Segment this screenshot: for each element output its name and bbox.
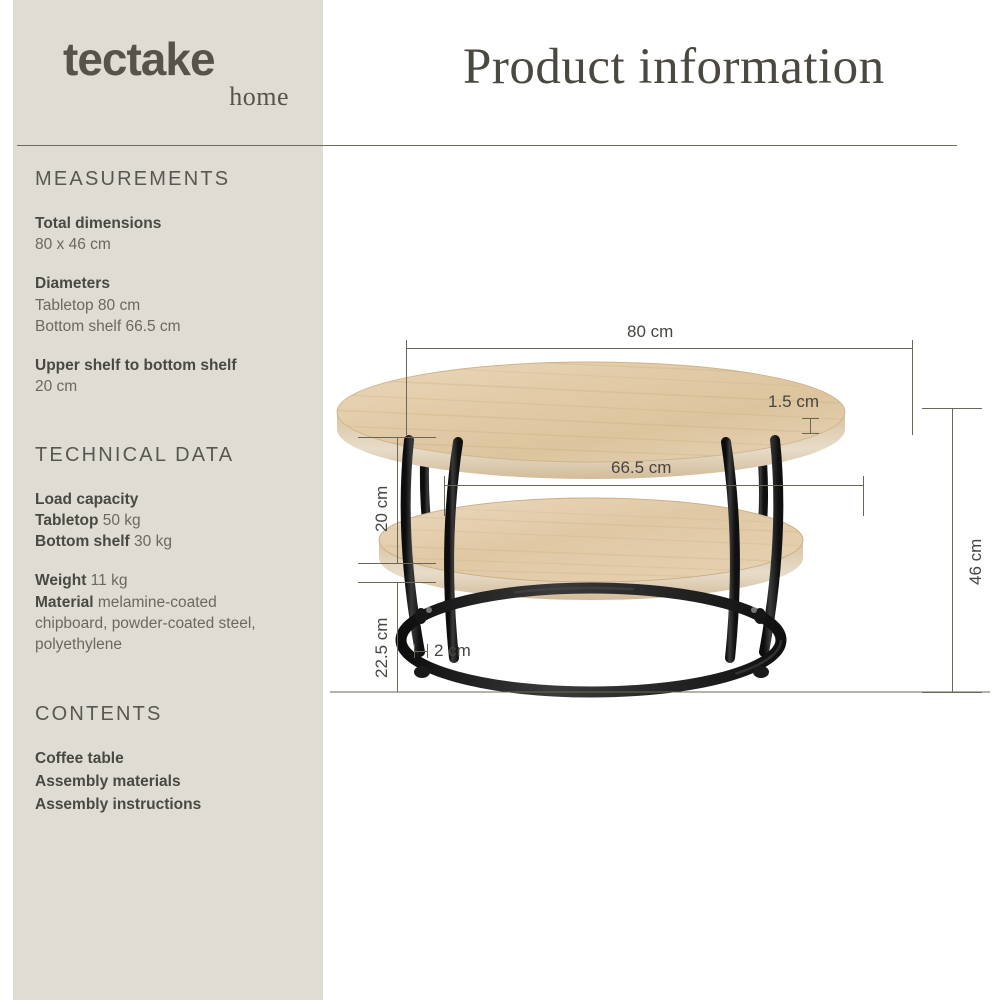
key-load-tabletop: Tabletop [35,512,98,529]
list-item: Assembly materials [35,771,335,794]
dim-label-base-tube: 2 cm [434,641,471,661]
row-load-bottom-shelf: Bottom shelf 30 kg [35,531,335,552]
label-diameters: Diameters [35,273,335,294]
val-material-line3: polyethylene [35,634,335,655]
dim-label-total-height: 46 cm [966,539,986,585]
val-material: melamine-coated [94,594,217,611]
dim-cap-thickness-top [802,418,819,419]
row-weight: Weight 11 kg [35,570,335,591]
dim-line-total-height [952,408,953,693]
contents-list: Coffee table Assembly materials Assembly… [35,748,335,816]
dim-line-shelf-gap [397,437,398,563]
dim-tick-width-left [406,340,407,435]
brand-name: tectake [63,36,293,82]
block-diameters: Diameters Tabletop 80 cm Bottom shelf 66… [35,273,335,337]
value-shelf-gap: 20 cm [35,376,335,397]
dim-label-shelf-gap: 20 cm [372,486,392,532]
label-load-capacity: Load capacity [35,489,335,510]
list-item: Coffee table [35,748,335,771]
block-shelf-gap: Upper shelf to bottom shelf 20 cm [35,355,335,397]
val-material-line2: chipboard, powder-coated steel, [35,613,335,634]
section-heading-measurements: MEASUREMENTS [35,168,335,191]
key-weight: Weight [35,572,86,589]
dim-cap-total-bottom [922,692,982,693]
val-load-bottom-shelf: 30 kg [130,533,172,550]
label-total-dimensions: Total dimensions [35,213,335,234]
block-weight-material: Weight 11 kg Material melamine-coated ch… [35,570,335,655]
brand-subtitle: home [63,84,293,110]
dim-label-shelf-diameter: 66.5 cm [611,458,671,478]
dim-cap-shelf-gap-bottom [358,563,436,564]
val-weight: 11 kg [86,572,127,589]
key-material: Material [35,594,94,611]
dim-label-thickness: 1.5 cm [768,392,819,412]
sidebar-content: MEASUREMENTS Total dimensions 80 x 46 cm… [35,168,335,817]
dim-cap-shelf-gap-top [358,437,436,438]
row-material: Material melamine-coated [35,592,335,613]
dim-tick-thickness [810,418,811,434]
key-load-bottom-shelf: Bottom shelf [35,533,130,550]
section-heading-contents: CONTENTS [35,703,335,726]
product-info-sheet: tectake home MEASUREMENTS Total dimensio… [0,0,1000,1000]
coffee-table-illustration [330,300,990,780]
block-total-dimensions: Total dimensions 80 x 46 cm [35,213,335,255]
dim-label-width-top: 80 cm [627,322,673,342]
dim-cap-base-height-top [358,582,436,583]
value-total-dimensions: 80 x 46 cm [35,234,335,255]
dim-line-width-top [406,348,913,349]
dim-tick-shelf-left [444,476,445,516]
header-divider [17,145,957,146]
label-shelf-gap: Upper shelf to bottom shelf [35,355,335,376]
base-ring [401,588,781,692]
dim-line-shelf-diameter [444,485,864,486]
section-heading-technical-data: TECHNICAL DATA [35,444,335,467]
product-diagram: 80 cm 1.5 cm 66.5 cm 20 cm 22.5 cm 2 cm … [330,300,990,780]
dim-tick-shelf-right [863,476,864,516]
value-diameter-bottom-shelf: Bottom shelf 66.5 cm [35,316,335,337]
list-item: Assembly instructions [35,794,335,817]
page-title: Product information [463,38,885,96]
dim-line-tube [414,651,428,652]
dim-line-base-height [397,582,398,692]
dim-label-base-height: 22.5 cm [372,618,392,678]
block-load-capacity: Load capacity Tabletop 50 kg Bottom shel… [35,489,335,553]
sidebar: tectake home MEASUREMENTS Total dimensio… [13,0,323,1000]
dim-cap-thickness-bottom [802,433,819,434]
dim-cap-total-top [922,408,982,409]
dim-tick-width-right [912,340,913,435]
val-load-tabletop: 50 kg [98,512,140,529]
row-load-tabletop: Tabletop 50 kg [35,510,335,531]
value-diameter-tabletop: Tabletop 80 cm [35,295,335,316]
brand-logo: tectake home [63,36,293,110]
